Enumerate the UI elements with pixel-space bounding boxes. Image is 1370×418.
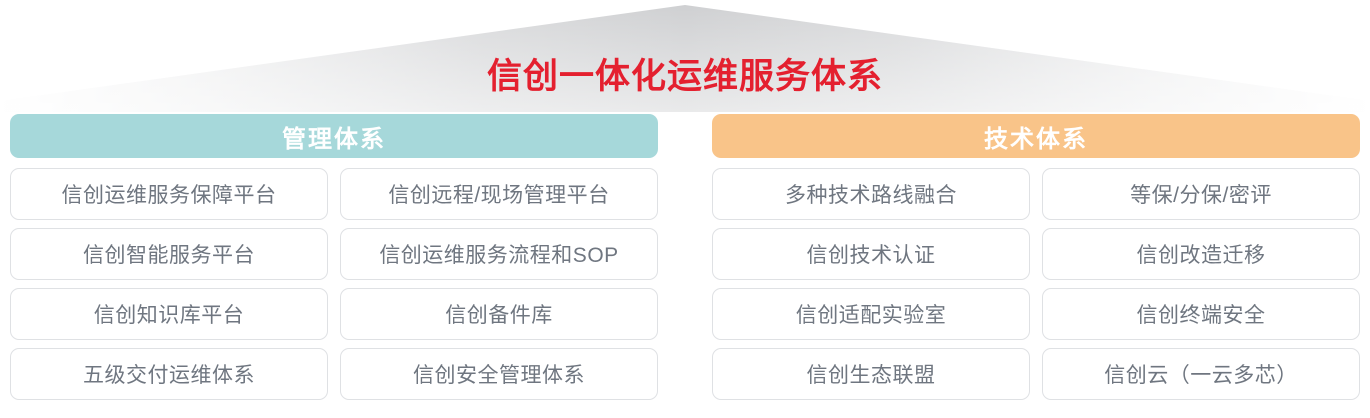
item-card[interactable]: 五级交付运维体系: [10, 348, 328, 400]
group-column-management-2: 信创远程/现场管理平台 信创运维服务流程和SOP 信创备件库 信创安全管理体系: [340, 168, 658, 400]
item-card[interactable]: 等保/分保/密评: [1042, 168, 1360, 220]
system-group-management: 管理体系 信创运维服务保障平台 信创智能服务平台 信创知识库平台 五级交付运维体…: [10, 114, 658, 400]
group-header-technology: 技术体系: [712, 114, 1360, 158]
item-card[interactable]: 多种技术路线融合: [712, 168, 1030, 220]
item-card[interactable]: 信创远程/现场管理平台: [340, 168, 658, 220]
system-group-technology: 技术体系 多种技术路线融合 信创技术认证 信创适配实验室 信创生态联盟 等保/分…: [712, 114, 1360, 400]
page-title: 信创一体化运维服务体系: [0, 55, 1370, 99]
group-columns-management: 信创运维服务保障平台 信创智能服务平台 信创知识库平台 五级交付运维体系 信创远…: [10, 168, 658, 400]
banner-roof: 信创一体化运维服务体系: [0, 0, 1370, 112]
item-card[interactable]: 信创智能服务平台: [10, 228, 328, 280]
group-column-management-1: 信创运维服务保障平台 信创智能服务平台 信创知识库平台 五级交付运维体系: [10, 168, 328, 400]
group-columns-technology: 多种技术路线融合 信创技术认证 信创适配实验室 信创生态联盟 等保/分保/密评 …: [712, 168, 1360, 400]
item-card[interactable]: 信创备件库: [340, 288, 658, 340]
item-card[interactable]: 信创安全管理体系: [340, 348, 658, 400]
item-card[interactable]: 信创知识库平台: [10, 288, 328, 340]
item-card[interactable]: 信创生态联盟: [712, 348, 1030, 400]
group-column-technology-2: 等保/分保/密评 信创改造迁移 信创终端安全 信创云（一云多芯）: [1042, 168, 1360, 400]
systems-container: 管理体系 信创运维服务保障平台 信创智能服务平台 信创知识库平台 五级交付运维体…: [10, 114, 1360, 400]
item-card[interactable]: 信创技术认证: [712, 228, 1030, 280]
group-header-management: 管理体系: [10, 114, 658, 158]
item-card[interactable]: 信创运维服务保障平台: [10, 168, 328, 220]
group-column-technology-1: 多种技术路线融合 信创技术认证 信创适配实验室 信创生态联盟: [712, 168, 1030, 400]
item-card[interactable]: 信创适配实验室: [712, 288, 1030, 340]
item-card[interactable]: 信创改造迁移: [1042, 228, 1360, 280]
item-card[interactable]: 信创云（一云多芯）: [1042, 348, 1360, 400]
item-card[interactable]: 信创终端安全: [1042, 288, 1360, 340]
item-card[interactable]: 信创运维服务流程和SOP: [340, 228, 658, 280]
